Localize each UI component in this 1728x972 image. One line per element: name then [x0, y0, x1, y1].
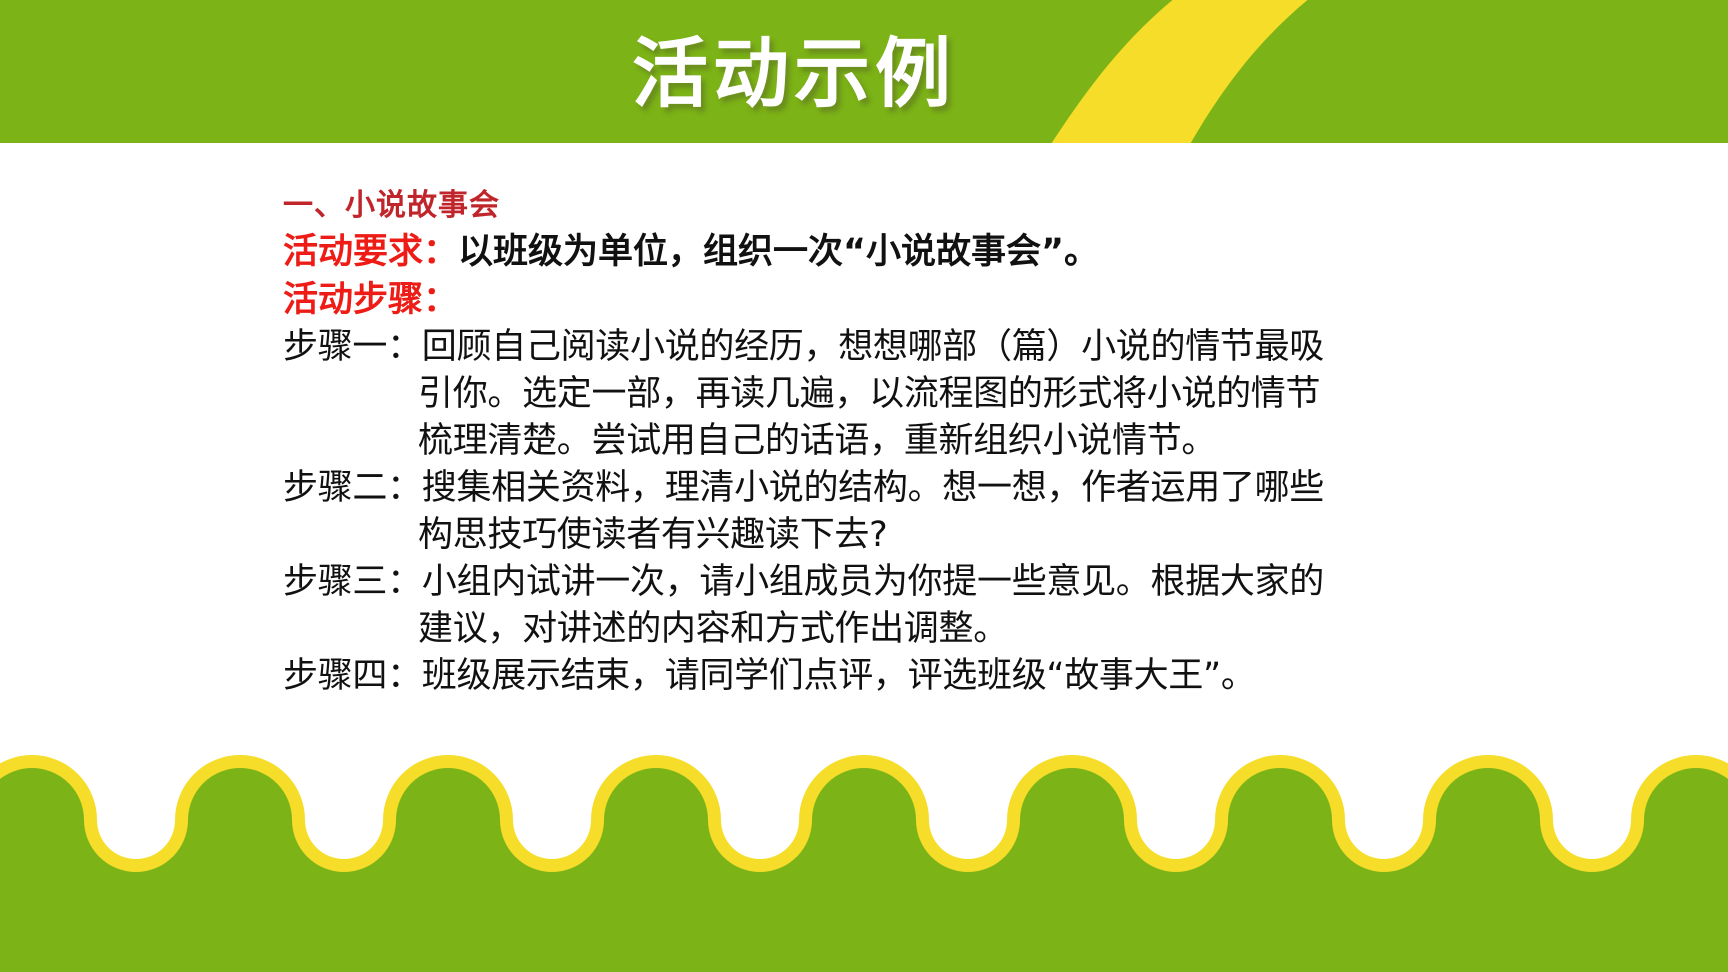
page-title-text: 活动示例: [632, 36, 956, 112]
slide-root: 活动示例 一、小说故事会 活动要求：以班级为单位，组织一次“小说故事会”。 活动…: [0, 0, 1728, 972]
footer-scallop-decoration: [0, 740, 1728, 972]
step-item-1: 步骤一：回顾自己阅读小说的经历，想想哪部（篇）小说的情节最吸 引你。选定一部，再…: [283, 324, 1403, 465]
header-band: 活动示例: [0, 0, 1728, 143]
step-line: 引你。选定一部，再读几遍，以流程图的形式将小说的情节: [283, 371, 1403, 418]
step-item-3: 步骤三：小组内试讲一次，请小组成员为你提一些意见。根据大家的 建议，对讲述的内容…: [283, 559, 1403, 653]
content-area: 一、小说故事会 活动要求：以班级为单位，组织一次“小说故事会”。 活动步骤： 步…: [283, 183, 1403, 700]
activity-requirement-label: 活动要求：: [283, 232, 458, 272]
step-line: 梳理清楚。尝试用自己的话语，重新组织小说情节。: [283, 418, 1403, 465]
activity-steps-label: 活动步骤：: [283, 276, 1403, 324]
step-line: 步骤四：班级展示结束，请同学们点评，评选班级“故事大王”。: [283, 653, 1403, 700]
step-line: 构思技巧使读者有兴趣读下去?: [283, 512, 1403, 559]
step-line: 步骤一：回顾自己阅读小说的经历，想想哪部（篇）小说的情节最吸: [283, 324, 1403, 371]
step-item-2: 步骤二：搜集相关资料，理清小说的结构。想一想，作者运用了哪些 构思技巧使读者有兴…: [283, 465, 1403, 559]
step-line: 步骤三：小组内试讲一次，请小组成员为你提一些意见。根据大家的: [283, 559, 1403, 606]
page-title: 活动示例: [0, 0, 1728, 143]
activity-requirement-line: 活动要求：以班级为单位，组织一次“小说故事会”。: [283, 228, 1403, 276]
step-line: 建议，对讲述的内容和方式作出调整。: [283, 606, 1403, 653]
step-item-4: 步骤四：班级展示结束，请同学们点评，评选班级“故事大王”。: [283, 653, 1403, 700]
step-line: 步骤二：搜集相关资料，理清小说的结构。想一想，作者运用了哪些: [283, 465, 1403, 512]
section-heading: 一、小说故事会: [283, 183, 1403, 228]
activity-requirement-text: 以班级为单位，组织一次“小说故事会”。: [458, 232, 1099, 272]
